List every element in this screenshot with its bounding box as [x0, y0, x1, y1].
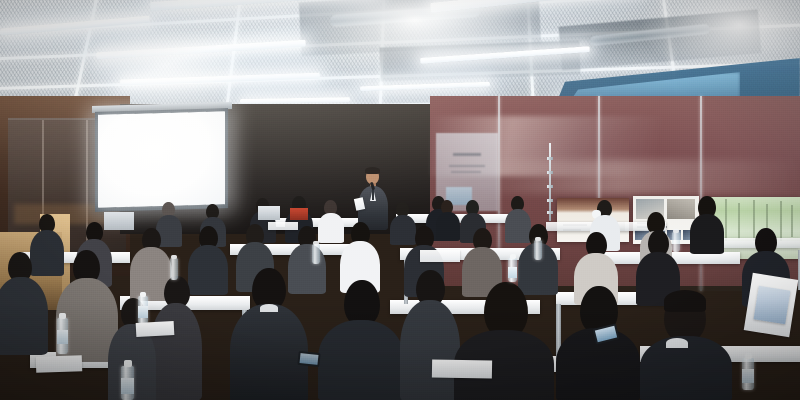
- attendee: [318, 280, 404, 400]
- laptop: [104, 212, 134, 230]
- tower-model: [547, 143, 553, 221]
- projection-screen: [95, 108, 228, 212]
- presenter: [356, 168, 390, 230]
- handout-paper: [36, 355, 83, 373]
- desk-sign: [290, 208, 308, 220]
- attendee-reading: [636, 292, 732, 400]
- handout-paper: [432, 359, 492, 378]
- presenter-hair: [365, 167, 380, 174]
- attendee: [230, 268, 308, 400]
- handout-paper: [136, 321, 175, 337]
- attendee: [690, 196, 724, 252]
- water-bottle: [742, 358, 754, 390]
- attendee-hair: [664, 290, 706, 312]
- attendee: [454, 282, 554, 400]
- handout-paper: [420, 250, 460, 262]
- photograph-seminar-room: Seminar presentation in an open-plan lec…: [0, 0, 800, 400]
- water-bottle: [170, 258, 178, 280]
- water-bottle: [312, 244, 320, 264]
- handout-paper: [268, 222, 298, 230]
- presenter-tie: [372, 189, 374, 200]
- water-bottle: [672, 232, 680, 252]
- attendee: [0, 252, 48, 352]
- water-bottle: [534, 240, 542, 260]
- projection-screen-surface: [98, 111, 225, 208]
- water-bottle: [138, 296, 148, 324]
- water-bottle: [121, 366, 134, 400]
- handout-paper-graphic: [754, 286, 791, 325]
- attendee: [400, 270, 460, 400]
- smartphone: [297, 351, 320, 367]
- laptop: [258, 206, 280, 220]
- water-bottle: [57, 318, 68, 354]
- water-bottle: [508, 258, 517, 282]
- attendee: [150, 276, 202, 400]
